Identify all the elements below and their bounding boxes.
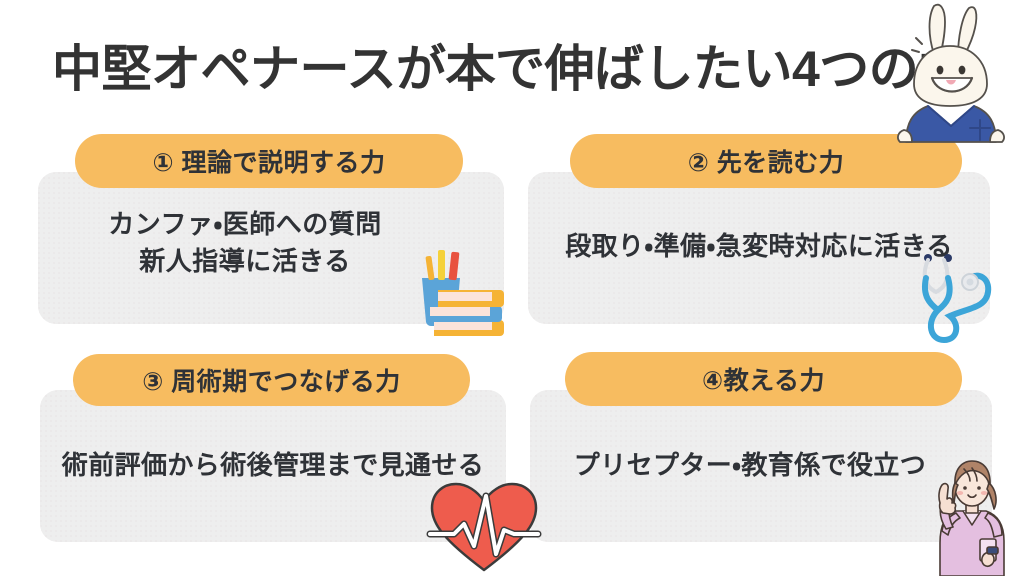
card-3-heading-pill: ③ 周術期でつなげる力 [73, 354, 470, 406]
slide-canvas: 中堅オペナースが本で伸ばしたい4つの力 ① 理論で説明する力 カンファ・医師への… [0, 0, 1024, 576]
page-title: 中堅オペナースが本で伸ばしたい4つの力 [52, 38, 952, 102]
nurse-pointing-up-illustration [930, 455, 1022, 576]
rabbit-nurse-mascot-illustration [888, 2, 1018, 142]
stethoscope-icon [908, 252, 1004, 356]
card-4-heading-pill: ④教える力 [565, 352, 962, 406]
card-1-body-text: カンファ・医師への質問 新人指導に活きる [55, 206, 435, 280]
heart-ecg-icon [428, 480, 540, 574]
card-3-body-text: 術前評価から術後管理まで見通せる [40, 447, 506, 484]
card-1-heading-pill: ① 理論で説明する力 [75, 134, 463, 188]
card-4-body-text: プリセプター・教育係で役立つ [530, 447, 970, 484]
stacked-books-and-pen-cup-icon [406, 248, 518, 338]
